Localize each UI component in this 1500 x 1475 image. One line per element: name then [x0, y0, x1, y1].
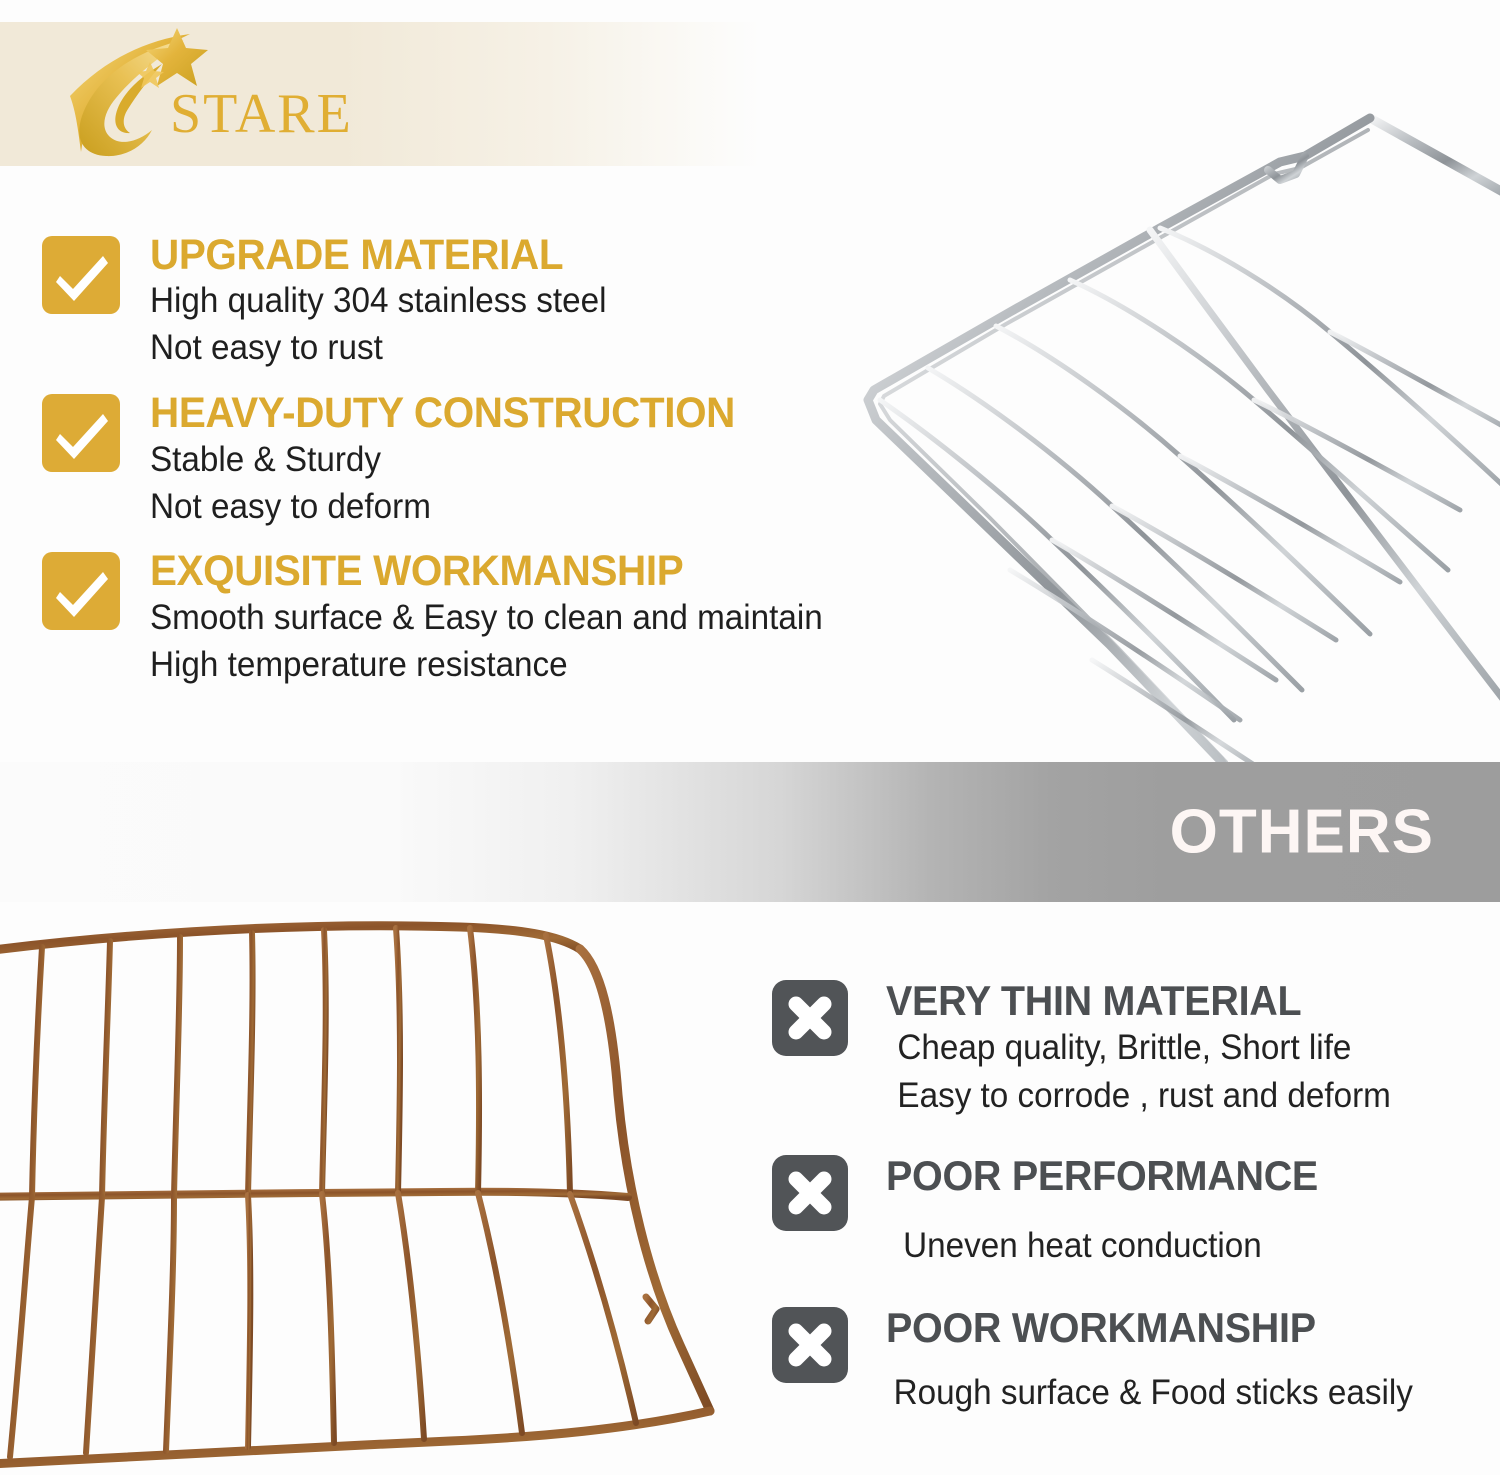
con-title: POOR WORKMANSHIP	[886, 1305, 1446, 1351]
cross-icon	[772, 980, 848, 1056]
pro-line: High temperature resistance	[150, 642, 836, 689]
pro-item: EXQUISITE WORKMANSHIP Smooth surface & E…	[42, 548, 872, 688]
pro-title: UPGRADE MATERIAL	[150, 232, 829, 278]
con-line: Easy to corrode , rust and deform	[886, 1072, 1452, 1120]
pro-title: EXQUISITE WORKMANSHIP	[150, 548, 829, 594]
brand-logo: STARE	[34, 24, 334, 164]
cross-icon	[772, 1155, 848, 1231]
others-label: OTHERS	[1170, 797, 1434, 868]
others-divider-band: OTHERS	[0, 762, 1500, 902]
con-item: POOR WORKMANSHIP Rough surface & Food st…	[772, 1305, 1482, 1417]
con-line: Rough surface & Food sticks easily	[886, 1369, 1452, 1417]
brand-name: STARE	[170, 82, 353, 146]
con-line: Cheap quality, Brittle, Short life	[886, 1024, 1452, 1072]
check-icon	[42, 236, 120, 314]
con-title: POOR PERFORMANCE	[886, 1153, 1446, 1199]
cons-feature-list: VERY THIN MATERIAL Cheap quality, Brittl…	[772, 978, 1482, 1417]
pro-line: Not easy to rust	[150, 325, 836, 372]
pro-line: Stable & Sturdy	[150, 437, 836, 484]
con-line: Uneven heat conduction	[886, 1222, 1452, 1270]
pro-line: Not easy to deform	[150, 484, 836, 531]
pro-line: High quality 304 stainless steel	[150, 278, 836, 325]
pro-line: Smooth surface & Easy to clean and maint…	[150, 595, 836, 642]
pros-feature-list: UPGRADE MATERIAL High quality 304 stainl…	[42, 232, 872, 707]
con-item: VERY THIN MATERIAL Cheap quality, Brittl…	[772, 978, 1482, 1119]
pro-item: HEAVY-DUTY CONSTRUCTION Stable & Sturdy …	[42, 390, 872, 530]
con-title: VERY THIN MATERIAL	[886, 978, 1446, 1024]
con-item: POOR PERFORMANCE Uneven heat conduction	[772, 1153, 1482, 1269]
pro-title: HEAVY-DUTY CONSTRUCTION	[150, 390, 829, 436]
check-icon	[42, 552, 120, 630]
check-icon	[42, 394, 120, 472]
rusty-rack-image	[0, 905, 740, 1475]
product-comparison-infographic: STARE UPGRADE MATERIAL High quality 304 …	[0, 0, 1500, 1475]
cross-icon	[772, 1307, 848, 1383]
stainless-steel-rack-image	[860, 100, 1500, 780]
pro-item: UPGRADE MATERIAL High quality 304 stainl…	[42, 232, 872, 372]
